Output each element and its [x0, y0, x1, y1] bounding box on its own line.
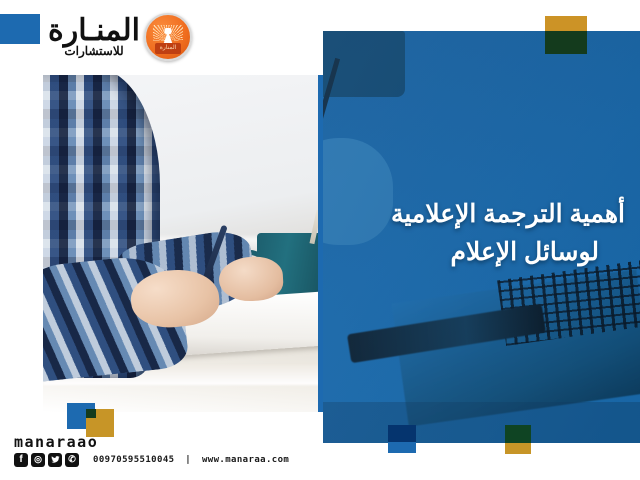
- headline-block: أهمية الترجمة الإعلامية لوسائل الإعلام: [330, 195, 633, 271]
- headline-line-1: أهمية الترجمة الإعلامية: [330, 195, 625, 233]
- decor-square-navy-bottom: [388, 425, 416, 442]
- footer-contact-info: 00970595510045 | www.manaraa.com: [93, 455, 289, 465]
- logo-wordmark: المنـارة للاستشارات: [48, 16, 140, 58]
- footer-phone[interactable]: 00970595510045: [93, 455, 174, 465]
- headline-line-2: لوسائل الإعلام: [330, 233, 599, 271]
- decor-square-green-bottom: [505, 425, 531, 443]
- emblem-plaque: المنارة: [155, 43, 181, 54]
- footer-website[interactable]: www.manaraa.com: [202, 455, 289, 465]
- brand-logo: المنـارة للاستشارات المنارة: [48, 8, 192, 66]
- footer-brand-handle: manaraao: [14, 435, 289, 451]
- hero-photo: [43, 75, 336, 412]
- twitter-icon[interactable]: [48, 453, 62, 467]
- footer: manaraao f ◎ ✆ 00970595510045 | www.mana…: [14, 435, 289, 467]
- decor-square-blue-bottom: [388, 442, 416, 453]
- instagram-icon[interactable]: ◎: [31, 453, 45, 467]
- footer-separator: |: [185, 455, 191, 465]
- decor-square-overlap-bottom-left: [86, 409, 96, 418]
- decor-square-gold-top-overlap: [545, 31, 587, 54]
- logo-name-arabic: المنـارة: [48, 16, 140, 46]
- lighthouse-icon: المنارة: [144, 13, 192, 61]
- decor-square-gold-bottom: [505, 443, 531, 454]
- footer-contact-row: f ◎ ✆ 00970595510045 | www.manaraa.com: [14, 453, 289, 467]
- social-icons: f ◎ ✆: [14, 453, 79, 467]
- decor-square-top-left: [0, 14, 40, 44]
- facebook-icon[interactable]: f: [14, 453, 28, 467]
- whatsapp-icon[interactable]: ✆: [65, 453, 79, 467]
